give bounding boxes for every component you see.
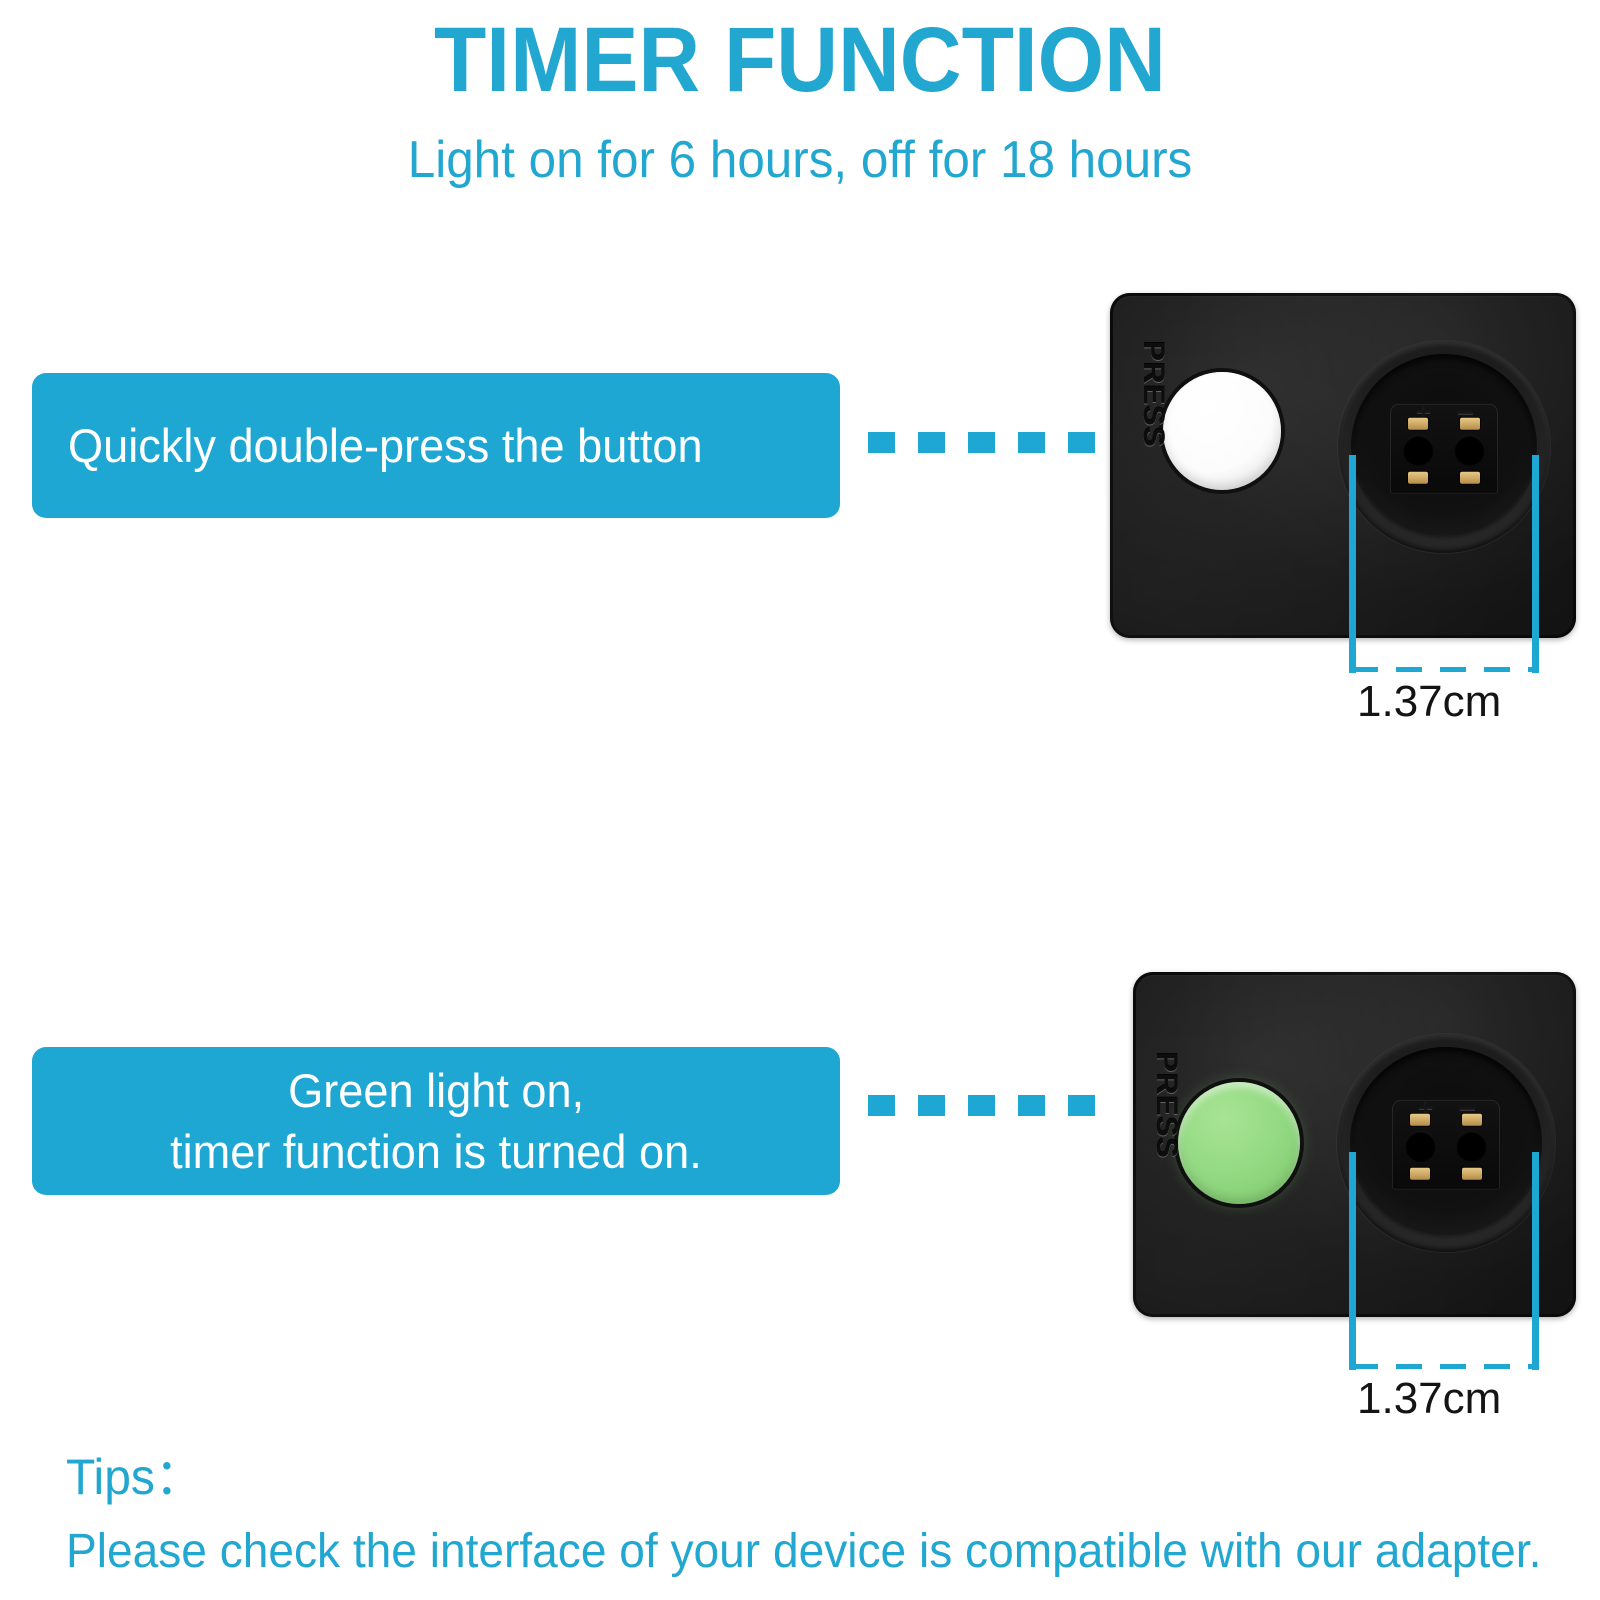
gold-contact (1408, 418, 1428, 430)
port-contact-panel: + − (1392, 1100, 1500, 1190)
gold-contact (1460, 418, 1480, 430)
gold-contact (1460, 472, 1480, 484)
gold-contact (1410, 1168, 1430, 1180)
dash-segment (868, 1095, 895, 1116)
dash-segment (968, 1095, 995, 1116)
pin-hole (1456, 1131, 1487, 1162)
pin-hole (1454, 435, 1485, 466)
infographic-page: TIMER FUNCTION Light on for 6 hours, off… (0, 0, 1600, 1600)
dimension-dashed-line (1352, 1364, 1535, 1369)
tips-section: Tips： Please check the interface of your… (66, 1452, 1600, 1576)
press-label: PRESS (1136, 341, 1170, 448)
connector-port: + − (1338, 341, 1550, 553)
dash-segment (918, 1095, 945, 1116)
tips-heading: Tips： (66, 1452, 1541, 1502)
gold-contact (1462, 1114, 1482, 1126)
dimension-label: 1.37cm (1357, 680, 1501, 724)
pin-hole (1405, 1131, 1436, 1162)
gold-contact (1462, 1168, 1482, 1180)
indicator-button-green[interactable] (1178, 1082, 1300, 1204)
connector-port: + − (1337, 1034, 1555, 1252)
callout-step-2-line-2: timer function is turned on. (170, 1121, 702, 1182)
page-subtitle: Light on for 6 hours, off for 18 hours (40, 134, 1560, 186)
dimension-extension-line-right (1532, 1152, 1539, 1370)
dash-segment (1018, 432, 1045, 453)
callout-step-1-line-1: Quickly double-press the button (68, 415, 809, 476)
dimension-label: 1.37cm (1357, 1377, 1501, 1421)
port-contact-panel: + − (1390, 404, 1498, 494)
gold-contact (1408, 472, 1428, 484)
callout-step-2: Green light on, timer function is turned… (32, 1047, 840, 1195)
page-title: TIMER FUNCTION (56, 14, 1544, 106)
callout-step-1: Quickly double-press the button (32, 373, 840, 518)
pin-hole (1403, 435, 1434, 466)
dimension-extension-line-left (1349, 1152, 1356, 1370)
dash-segment (868, 432, 895, 453)
header: TIMER FUNCTION Light on for 6 hours, off… (0, 14, 1600, 186)
dimension-dashed-line (1352, 667, 1535, 672)
callout-step-2-line-1: Green light on, (288, 1060, 584, 1121)
adapter-device-step-1: PRESS + − (1110, 293, 1576, 638)
dash-segment (1068, 432, 1095, 453)
press-label: PRESS (1149, 1052, 1183, 1159)
tips-body: Please check the interface of your devic… (66, 1528, 1541, 1576)
dash-segment (968, 432, 995, 453)
dimension-extension-line-right (1532, 455, 1539, 673)
dimension-extension-line-left (1349, 455, 1356, 673)
gold-contact (1410, 1114, 1430, 1126)
dash-segment (918, 432, 945, 453)
dash-segment (1068, 1095, 1095, 1116)
indicator-button-white[interactable] (1163, 372, 1281, 490)
dash-segment (1018, 1095, 1045, 1116)
